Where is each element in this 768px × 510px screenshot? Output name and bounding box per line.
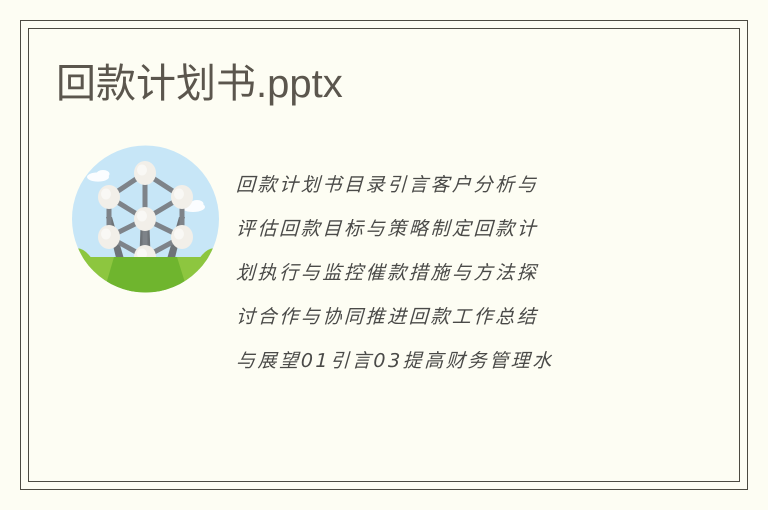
preview-line: 讨合作与协同推进回款工作总结: [235, 295, 651, 339]
preview-line: 回款计划书目录引言客户分析与: [235, 163, 651, 207]
preview-line: 与展望01引言03提高财务管理水: [235, 339, 651, 383]
atomium-illustration-icon: [72, 145, 219, 293]
document-text-preview: 回款计划书目录引言客户分析与 评估回款目标与策略制定回款计 划执行与监控催款措施…: [236, 163, 650, 383]
preview-line: 评估回款目标与策略制定回款计: [235, 207, 651, 251]
document-preview-page: 回款计划书.pptx: [0, 0, 768, 510]
preview-line: 划执行与监控催款措施与方法探: [235, 251, 651, 295]
page-title: 回款计划书.pptx: [56, 58, 343, 110]
